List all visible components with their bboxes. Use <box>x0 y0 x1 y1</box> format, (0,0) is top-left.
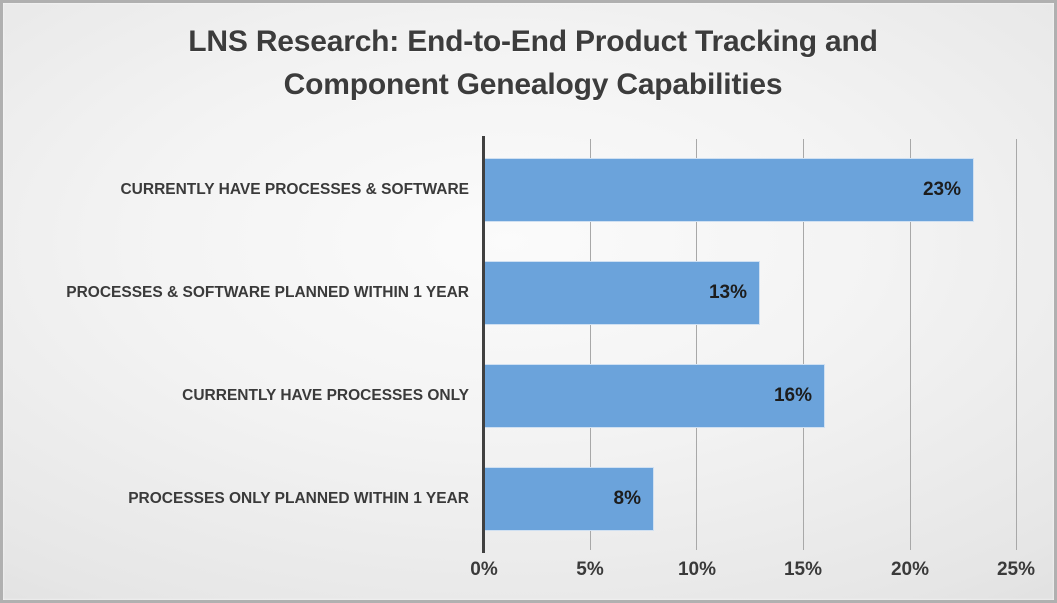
chart-title-line-1: LNS Research: End-to-End Product Trackin… <box>93 21 973 64</box>
slide-canvas: LNS Research: End-to-End Product Trackin… <box>0 0 1057 603</box>
value-axis-line <box>482 136 485 553</box>
x-tick-label-0: 0% <box>470 559 497 581</box>
bar-value-label: 13% <box>483 261 747 325</box>
bar-row: 23% <box>483 139 1017 241</box>
category-label-processes-and-software-planned-within-1-year: PROCESSES & SOFTWARE PLANNED WITHIN 1 YE… <box>3 242 469 344</box>
x-tick-label-10: 10% <box>678 559 716 581</box>
chart-title-line-2: Component Genealogy Capabilities <box>93 64 973 107</box>
bar-value-label: 16% <box>483 364 812 428</box>
bar-row: 13% <box>483 242 1017 344</box>
x-tick-label-5: 5% <box>576 559 603 581</box>
x-tick-label-15: 15% <box>784 559 822 581</box>
plot-area: 23% 13% 16% 8% <box>483 139 1017 550</box>
bar-value-label: 8% <box>483 467 641 531</box>
value-axis-tick-labels: 0% 5% 10% 15% 20% 25% <box>483 559 1017 591</box>
category-axis-labels: CURRENTLY HAVE PROCESSES & SOFTWARE PROC… <box>3 139 469 550</box>
bar-value-label: 23% <box>483 158 961 222</box>
x-tick-label-25: 25% <box>997 559 1035 581</box>
category-label-processes-only-planned-within-1-year: PROCESSES ONLY PLANNED WITHIN 1 YEAR <box>3 448 469 550</box>
chart-title: LNS Research: End-to-End Product Trackin… <box>93 21 973 106</box>
category-label-currently-have-processes-only: CURRENTLY HAVE PROCESSES ONLY <box>3 345 469 447</box>
bar-row: 16% <box>483 345 1017 447</box>
bar-row: 8% <box>483 448 1017 550</box>
x-tick-label-20: 20% <box>891 559 929 581</box>
category-label-currently-have-processes-and-software: CURRENTLY HAVE PROCESSES & SOFTWARE <box>3 139 469 241</box>
bar-series: 23% 13% 16% 8% <box>483 139 1017 550</box>
